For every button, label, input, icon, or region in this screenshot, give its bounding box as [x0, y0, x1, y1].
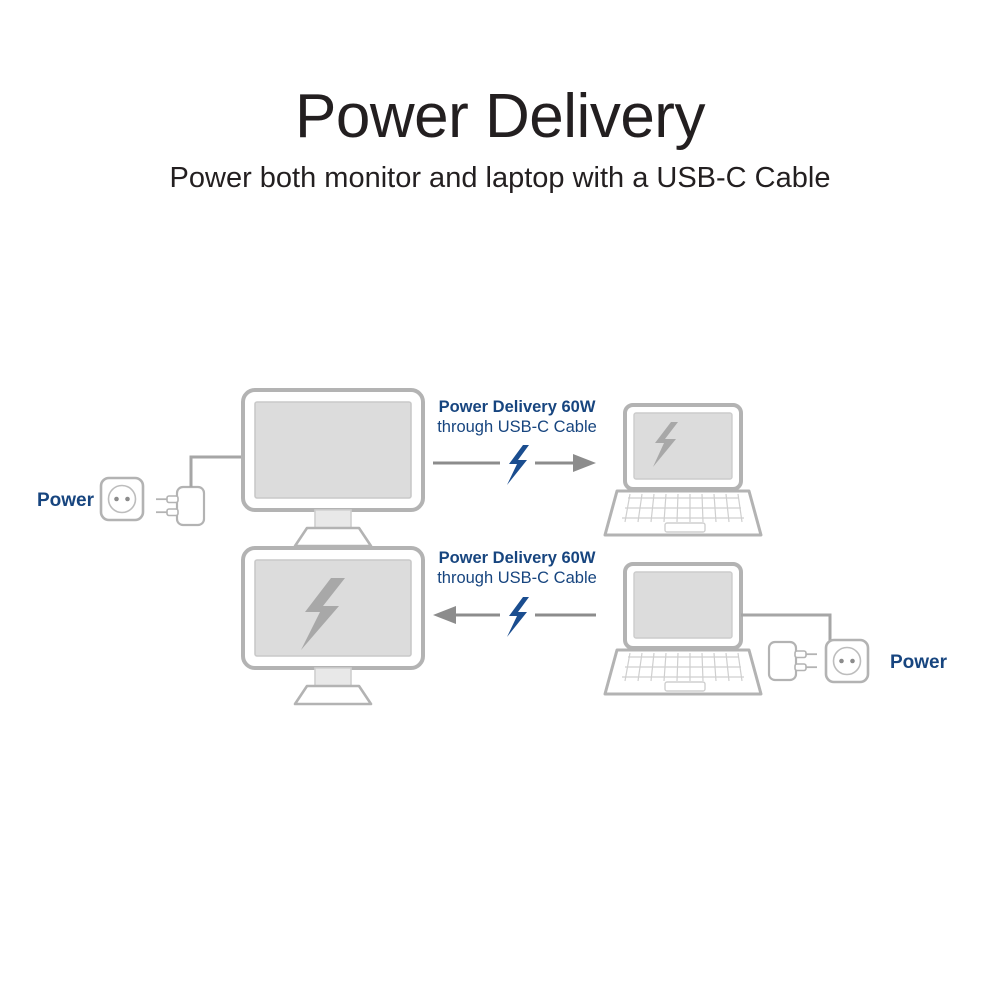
bolt-icon-bottom: [507, 597, 529, 637]
power-cable-left: [191, 457, 246, 487]
connection-label-bottom-line1: Power Delivery 60W: [439, 549, 596, 567]
page-root: Power Delivery Power both monitor and la…: [0, 0, 1000, 1000]
power-cable-right: [741, 615, 830, 642]
diagram-canvas: Power Power Delivery 60W through USB-C C…: [0, 330, 1000, 730]
connection-label-top-line1: Power Delivery 60W: [439, 398, 596, 416]
page-subtitle: Power both monitor and laptop with a USB…: [0, 149, 1000, 195]
bolt-icon-top: [507, 445, 529, 485]
power-adapter-right: [769, 642, 817, 680]
power-socket-right: [826, 640, 868, 682]
monitor-top: [243, 390, 423, 546]
power-label-left: Power: [37, 490, 95, 511]
power-delivery-diagram: Power Power Delivery 60W through USB-C C…: [0, 330, 1000, 730]
row-bottom: Power Delivery 60W through USB-C Cable: [243, 548, 948, 704]
page-title: Power Delivery: [0, 0, 1000, 149]
row-top: Power Power Delivery 60W through USB-C C…: [37, 390, 761, 546]
laptop-bottom: [605, 564, 761, 694]
monitor-bottom: [243, 548, 423, 704]
power-socket-left: [101, 478, 143, 520]
power-adapter-left: [156, 487, 204, 525]
laptop-top: [605, 405, 761, 535]
connection-label-bottom-line2: through USB-C Cable: [437, 569, 597, 587]
header: Power Delivery Power both monitor and la…: [0, 0, 1000, 195]
power-label-right: Power: [890, 652, 948, 673]
connection-label-top-line2: through USB-C Cable: [437, 418, 597, 436]
